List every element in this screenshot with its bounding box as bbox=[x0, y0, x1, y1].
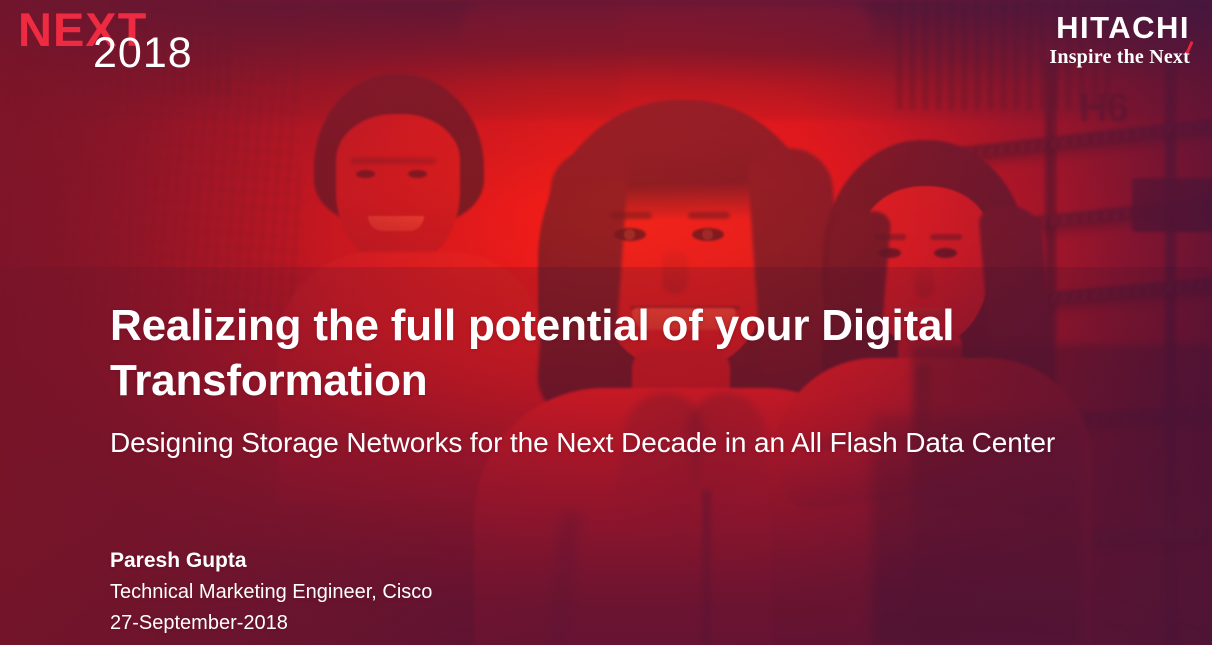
slide-title: Realizing the full potential of your Dig… bbox=[110, 298, 1055, 409]
slide-content: Realizing the full potential of your Dig… bbox=[110, 0, 1110, 645]
presenter-name: Paresh Gupta bbox=[110, 545, 750, 577]
presentation-slide: H6 bbox=[0, 0, 1212, 645]
presentation-date: 27-September-2018 bbox=[110, 608, 750, 639]
slide-subtitle: Designing Storage Networks for the Next … bbox=[110, 425, 1070, 462]
presenter-role: Technical Marketing Engineer, Cisco bbox=[110, 577, 750, 608]
presenter-block: Paresh Gupta Technical Marketing Enginee… bbox=[110, 545, 750, 639]
